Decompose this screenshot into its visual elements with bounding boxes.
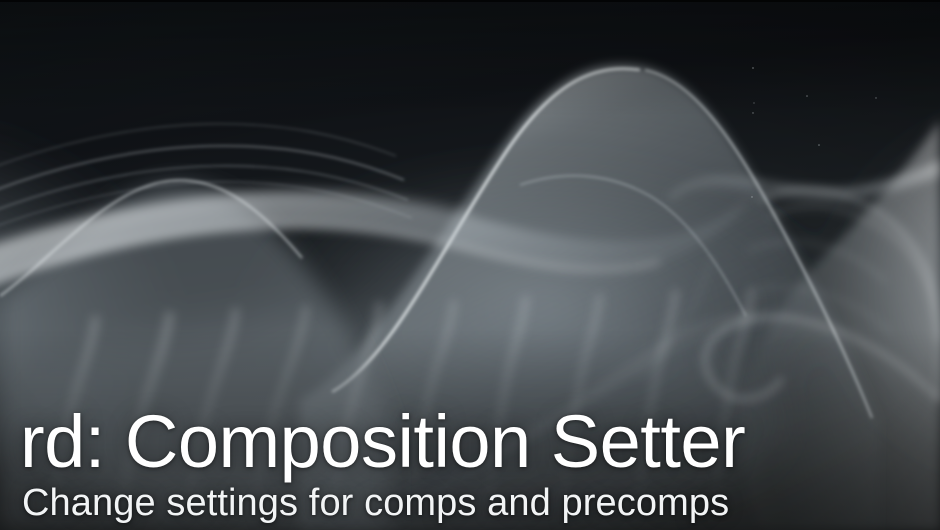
banner-text-block: rd: Composition Setter Change settings f… <box>0 405 940 530</box>
page-subtitle: Change settings for comps and precomps <box>22 483 940 524</box>
top-border-line <box>0 0 940 2</box>
title-banner: rd: Composition Setter Change settings f… <box>0 0 940 530</box>
page-title: rd: Composition Setter <box>20 405 940 479</box>
